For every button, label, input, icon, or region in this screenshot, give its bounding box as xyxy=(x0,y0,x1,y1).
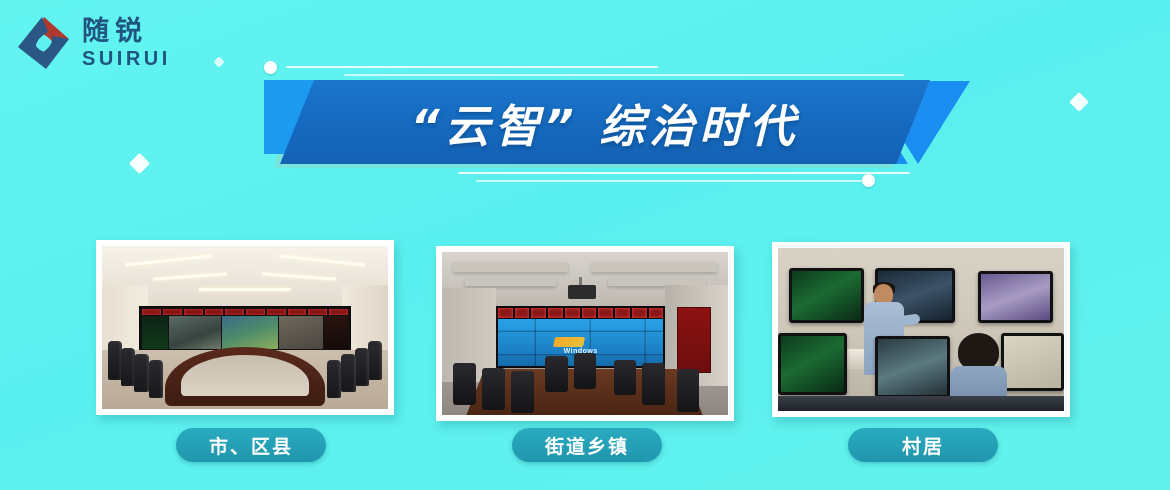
decor-diamond-small xyxy=(213,56,224,67)
title-banner: “云智” 综治时代 xyxy=(262,52,952,197)
page-title: “云智” 综治时代 xyxy=(280,80,930,164)
card-village[interactable] xyxy=(772,242,1070,417)
caption-village[interactable]: 村居 xyxy=(848,428,998,462)
decor-line-bottom-2 xyxy=(476,180,866,182)
caption-street-township-label: 街道乡镇 xyxy=(545,432,629,459)
street-township-meeting-room-photo: Windows xyxy=(442,252,728,415)
brand-logo: 随锐 SUIRUI xyxy=(14,14,171,72)
suirui-pinwheel-logo-icon xyxy=(14,14,74,72)
card-city-district[interactable] xyxy=(96,240,394,415)
decor-line-top-2 xyxy=(344,74,904,76)
decor-dot-top-left xyxy=(264,61,277,74)
brand-name-cn: 随锐 xyxy=(82,18,171,45)
caption-city-district[interactable]: 市、区县 xyxy=(176,428,326,462)
card-street-township[interactable]: Windows xyxy=(436,246,734,421)
slide-background: 随锐 SUIRUI “云智” 综治时代 xyxy=(0,0,1170,490)
decor-line-top-1 xyxy=(286,66,658,68)
city-district-command-center-photo xyxy=(102,246,388,409)
village-monitoring-room-photo xyxy=(778,248,1064,411)
caption-street-township[interactable]: 街道乡镇 xyxy=(512,428,662,462)
decor-diamond-right xyxy=(1069,92,1089,112)
decor-diamond-left xyxy=(129,153,150,174)
decor-line-bottom-1 xyxy=(458,172,910,174)
caption-village-label: 村居 xyxy=(902,432,944,459)
caption-city-district-label: 市、区县 xyxy=(209,432,293,459)
brand-name-en: SUIRUI xyxy=(82,49,171,69)
decor-dot-bottom-right xyxy=(862,174,875,187)
